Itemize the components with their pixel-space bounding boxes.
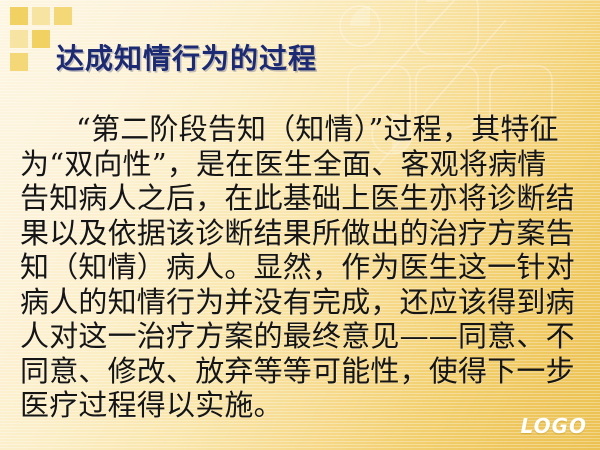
body-line: 知（知情）病人。显然，作为医生这一针对: [20, 250, 586, 285]
logo-placeholder: LOGO: [521, 414, 587, 438]
body-line: 医疗过程得以实施。: [20, 388, 586, 423]
body-line: 告知病人之后，在此基础上医生亦将诊断结: [20, 181, 586, 216]
body-line: 为“双向性”，是在医生全面、客观将病情: [20, 147, 586, 182]
body-line: 病人的知情行为并没有完成，还应该得到病: [20, 285, 586, 320]
body-line: 果以及依据该诊断结果所做出的治疗方案告: [20, 216, 586, 251]
body-line: 同意、修改、放弃等等可能性，使得下一步: [20, 354, 586, 389]
square-bottom-left: [10, 53, 28, 71]
slide-body-text: “第二阶段告知（知情）”过程，其特征 为“双向性”，是在医生全面、客观将病情 告…: [20, 112, 586, 423]
presentation-slide: 达成知情行为的过程 “第二阶段告知（知情）”过程，其特征 为“双向性”，是在医生…: [0, 0, 600, 450]
body-line: “第二阶段告知（知情）”过程，其特征: [20, 112, 586, 147]
slide-title: 达成知情行为的过程: [56, 37, 317, 77]
square-top-middle: [32, 7, 50, 25]
square-top-left: [10, 7, 28, 25]
square-mid-middle: [32, 30, 50, 48]
square-mid-left: [10, 30, 28, 48]
square-top-right: [54, 7, 72, 25]
body-line: 人对这一治疗方案的最终意见——同意、不: [20, 319, 586, 354]
